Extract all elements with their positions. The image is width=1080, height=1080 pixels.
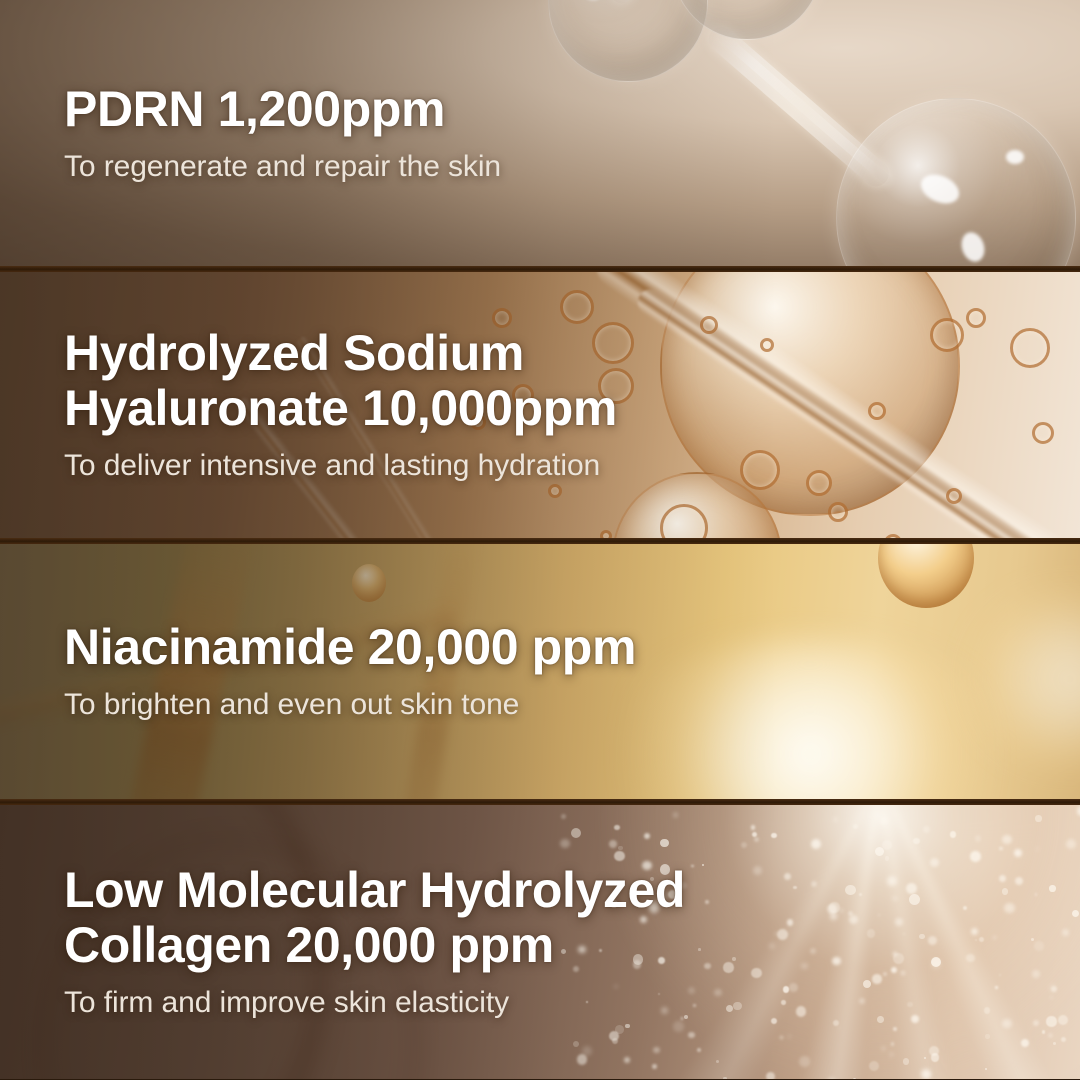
ingredient-title: Low Molecular Hydrolyzed Collagen 20,000… [64,863,1080,973]
ingredient-benefit: To deliver intensive and lasting hydrati… [64,448,1080,484]
ingredient-title: Niacinamide 20,000 ppm [64,620,1080,675]
ingredient-benefit: To brighten and even out skin tone [64,687,1080,723]
panel-content-hyaluronate: Hydrolyzed Sodium Hyaluronate 10,000ppm … [0,272,1080,538]
ingredient-panel-hyaluronate: Hydrolyzed Sodium Hyaluronate 10,000ppm … [0,272,1080,538]
ingredient-benefit: To regenerate and repair the skin [64,149,1080,185]
ingredient-benefit: To firm and improve skin elasticity [64,985,1080,1021]
panel-content-niacinamide: Niacinamide 20,000 ppm To brighten and e… [0,544,1080,799]
panel-divider [0,799,1080,805]
ingredient-title: PDRN 1,200ppm [64,82,1080,137]
ingredient-title: Hydrolyzed Sodium Hyaluronate 10,000ppm [64,326,1080,436]
ingredient-panel-pdrn: PDRN 1,200ppm To regenerate and repair t… [0,0,1080,266]
panel-divider [0,266,1080,272]
ingredient-panel-niacinamide: Niacinamide 20,000 ppm To brighten and e… [0,544,1080,799]
ingredient-panel-collagen: Low Molecular Hydrolyzed Collagen 20,000… [0,805,1080,1079]
ingredient-infographic: PDRN 1,200ppm To regenerate and repair t… [0,0,1080,1080]
panel-divider [0,538,1080,544]
panel-content-pdrn: PDRN 1,200ppm To regenerate and repair t… [0,0,1080,266]
panel-content-collagen: Low Molecular Hydrolyzed Collagen 20,000… [0,805,1080,1079]
